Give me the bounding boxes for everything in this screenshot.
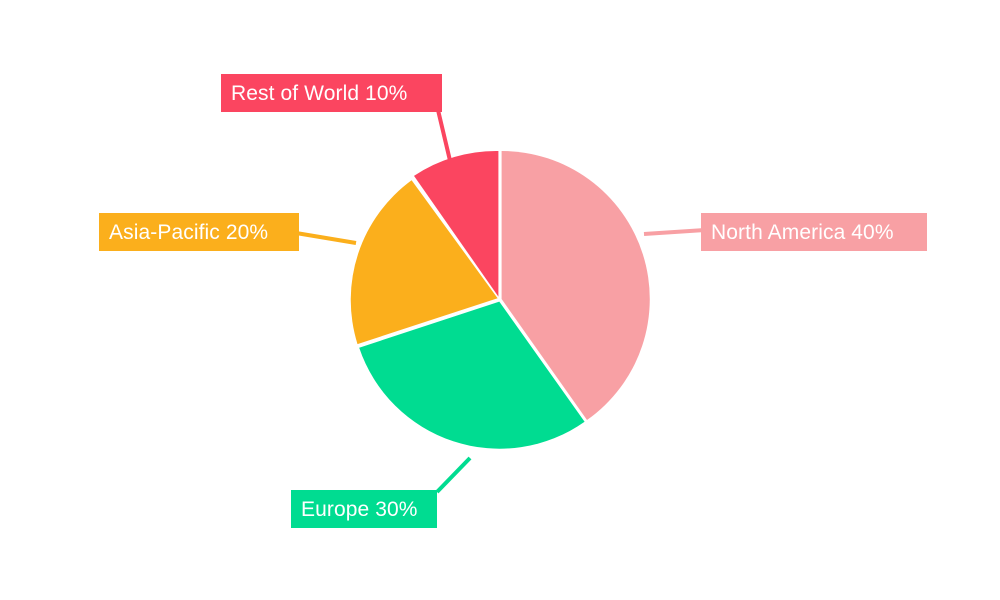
leader-line-asia-pacific [296,233,356,243]
slice-label-north-america[interactable]: North America 40% [701,213,927,251]
pie-chart-canvas [0,0,1000,600]
slice-label-europe-text: Europe 30% [301,499,418,520]
slice-label-europe[interactable]: Europe 30% [291,490,437,528]
slice-label-asia-pacific-text: Asia-Pacific 20% [109,222,268,243]
slice-label-rest-of-world-text: Rest of World 10% [231,83,407,104]
leader-line-north-america [644,230,705,234]
slice-label-north-america-text: North America 40% [711,222,894,243]
leader-line-europe [437,458,470,492]
pie-wedges [351,151,650,449]
pie-chart-figure: North America 40% Europe 30% Asia-Pacifi… [0,0,1000,600]
slice-label-asia-pacific[interactable]: Asia-Pacific 20% [99,213,299,251]
slice-label-rest-of-world[interactable]: Rest of World 10% [221,74,442,112]
